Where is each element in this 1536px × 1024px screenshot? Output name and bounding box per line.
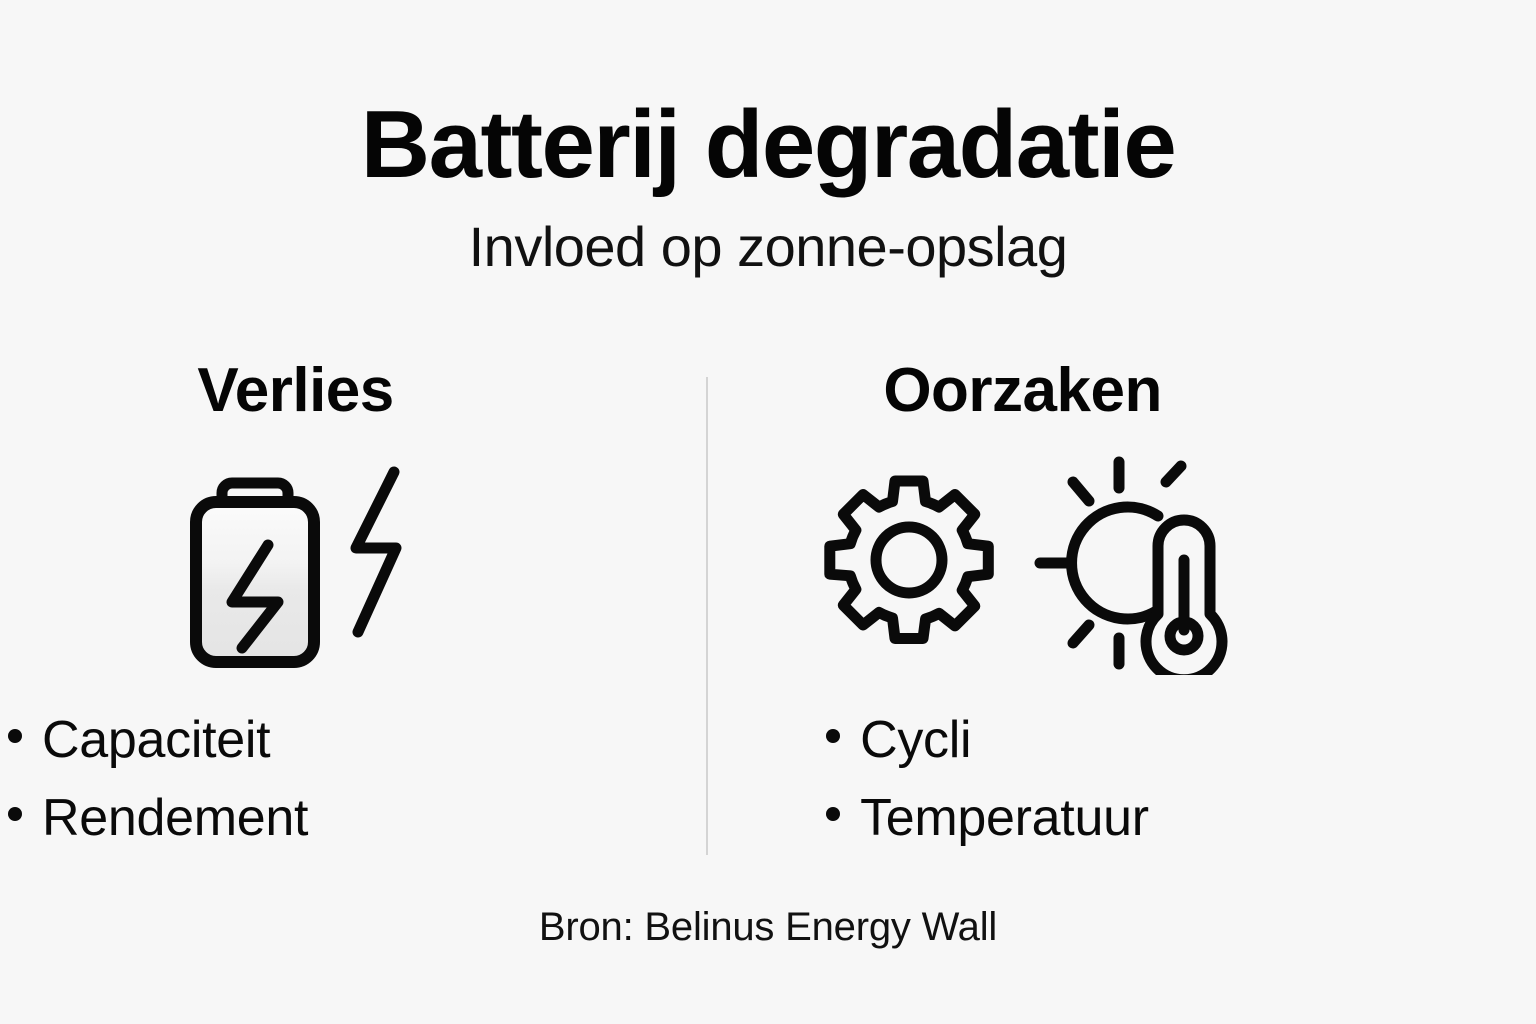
list-item-label: Temperatuur: [860, 779, 1149, 857]
column-heading-verlies: Verlies: [197, 360, 393, 422]
list-item: Cycli: [826, 701, 1149, 779]
icon-row-verlies: [180, 452, 412, 677]
bullet-dot-icon: [8, 729, 22, 743]
column-verlies: Verlies: [0, 360, 706, 880]
bullet-dot-icon: [826, 729, 840, 743]
gear-icon: [814, 467, 1004, 662]
source-caption: Bron: Belinus Energy Wall: [0, 905, 1536, 950]
battery-gradient-icon: [180, 450, 330, 680]
bullet-dot-icon: [826, 807, 840, 821]
page-title: Batterij degradatie: [0, 96, 1536, 194]
list-item: Rendement: [8, 779, 308, 857]
bullet-dot-icon: [8, 807, 22, 821]
list-item-label: Capaciteit: [42, 701, 270, 779]
columns-container: Verlies: [0, 360, 1536, 880]
column-heading-oorzaken: Oorzaken: [883, 360, 1162, 422]
lightning-bolt-icon: [338, 450, 412, 680]
bullet-list-oorzaken: Cycli Temperatuur: [826, 701, 1149, 857]
list-item: Temperatuur: [826, 779, 1149, 857]
sun-thermometer-icon: [1026, 450, 1231, 680]
infographic-poster: Batterij degradatie Invloed op zonne-ops…: [0, 0, 1536, 1024]
page-subtitle: Invloed op zonne-opslag: [0, 218, 1536, 277]
list-item: Capaciteit: [8, 701, 308, 779]
column-oorzaken: Oorzaken: [708, 360, 1536, 880]
list-item-label: Cycli: [860, 701, 971, 779]
bullet-list-verlies: Capaciteit Rendement: [8, 701, 308, 857]
list-item-label: Rendement: [42, 779, 308, 857]
header: Batterij degradatie Invloed op zonne-ops…: [0, 96, 1536, 277]
icon-row-oorzaken: [814, 452, 1231, 677]
